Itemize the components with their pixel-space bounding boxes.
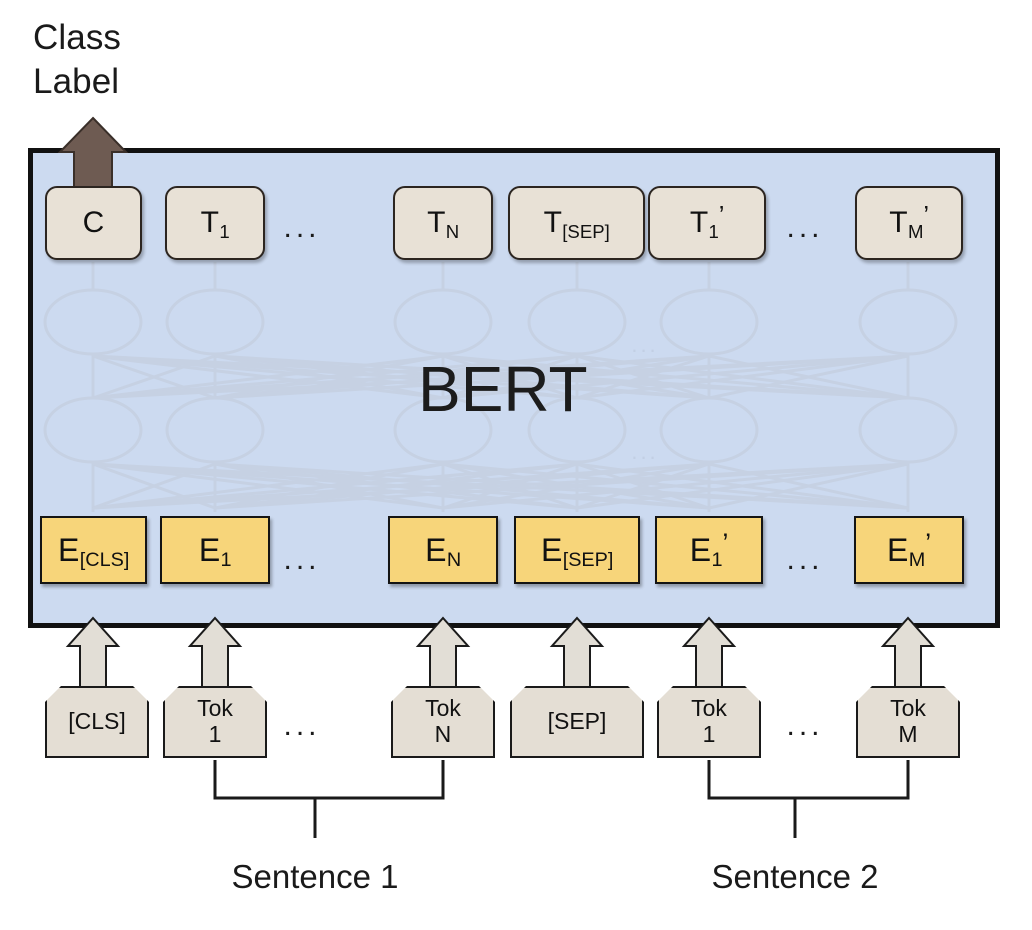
output-node-t1-label: T1	[201, 206, 230, 240]
embedding-node-e1-label: E1	[199, 532, 231, 569]
embedding-node-em-prime-label: EM’	[887, 532, 931, 569]
input-token-tok1-prime[interactable]: Tok 1	[657, 686, 761, 758]
input-token-cls[interactable]: [CLS]	[45, 686, 149, 758]
inner-ellipsis-upper: ...	[631, 332, 658, 358]
input-token-tokm-label: Tok M	[890, 696, 926, 748]
input-token-tokn[interactable]: Tok N	[391, 686, 495, 758]
embedding-row-ellipsis-2: ...	[786, 543, 823, 577]
embedding-node-en-label: EN	[425, 532, 461, 569]
embedding-node-e-sep[interactable]: E[SEP]	[514, 516, 640, 584]
output-node-tn-label: TN	[427, 206, 459, 240]
input-token-tokm[interactable]: Tok M	[856, 686, 960, 758]
input-token-tok1-label: Tok 1	[197, 696, 233, 748]
output-node-c-label: C	[83, 206, 105, 240]
output-node-t1[interactable]: T1	[165, 186, 265, 260]
embedding-node-e-cls[interactable]: E[CLS]	[40, 516, 147, 584]
output-node-t1-prime[interactable]: T1’	[648, 186, 766, 260]
bert-center-label: BERT	[418, 352, 588, 426]
output-row-ellipsis-1: ...	[283, 211, 320, 245]
output-node-tsep[interactable]: T[SEP]	[508, 186, 645, 260]
embedding-node-e-sep-label: E[SEP]	[541, 532, 613, 569]
embedding-node-e1[interactable]: E1	[160, 516, 270, 584]
sentence-brackets	[215, 760, 908, 838]
output-row-ellipsis-2: ...	[786, 211, 823, 245]
sentence-2-label: Sentence 2	[712, 858, 879, 896]
output-node-tm-prime[interactable]: TM’	[855, 186, 963, 260]
output-node-tm-prime-label: TM’	[889, 206, 929, 240]
input-token-tok1[interactable]: Tok 1	[163, 686, 267, 758]
input-arrows	[68, 618, 933, 690]
inner-ellipsis-lower: ...	[631, 439, 658, 465]
input-token-sep-label: [SEP]	[548, 709, 607, 735]
embedding-row-ellipsis-1: ...	[283, 543, 320, 577]
embedding-node-e1-prime[interactable]: E1’	[655, 516, 763, 584]
embedding-node-en[interactable]: EN	[388, 516, 498, 584]
output-node-tn[interactable]: TN	[393, 186, 493, 260]
input-token-tokn-label: Tok N	[425, 696, 461, 748]
embedding-node-em-prime[interactable]: EM’	[854, 516, 964, 584]
embedding-node-e1-prime-label: E1’	[690, 532, 728, 569]
input-token-cls-label: [CLS]	[68, 709, 126, 735]
token-row-ellipsis-1: ...	[283, 709, 320, 743]
output-node-c[interactable]: C	[45, 186, 142, 260]
input-token-sep[interactable]: [SEP]	[510, 686, 644, 758]
bert-architecture-diagram: Class Label	[0, 0, 1032, 930]
token-row-ellipsis-2: ...	[786, 709, 823, 743]
output-node-t1-prime-label: T1’	[690, 206, 724, 240]
sentence-1-label: Sentence 1	[232, 858, 399, 896]
embedding-node-e-cls-label: E[CLS]	[58, 532, 129, 569]
class-label-text: Class Label	[33, 16, 121, 104]
output-node-tsep-label: T[SEP]	[544, 206, 610, 240]
input-token-tok1-prime-label: Tok 1	[691, 696, 727, 748]
